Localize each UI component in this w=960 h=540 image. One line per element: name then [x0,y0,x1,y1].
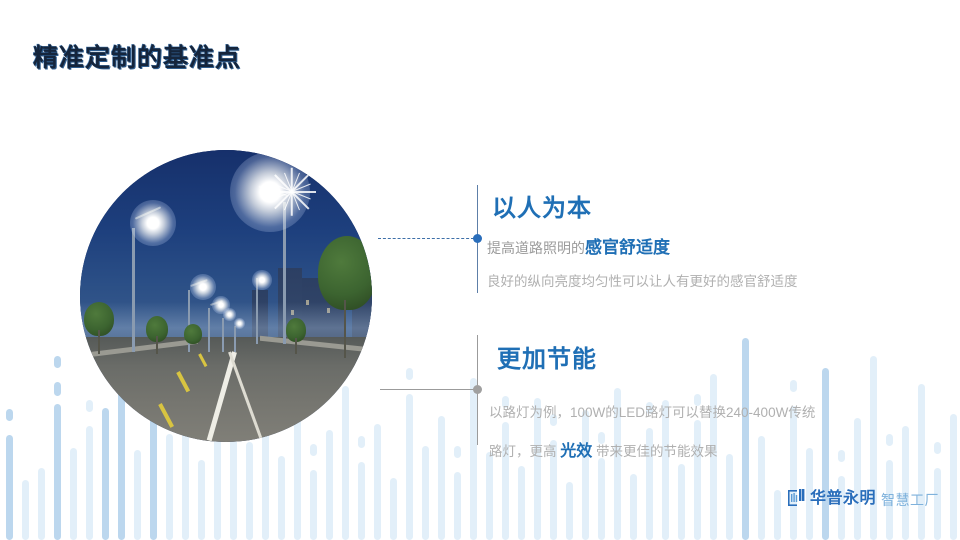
brand-logo: 华普永明 智慧工厂 [788,489,939,507]
photo-lamp-glow [252,270,272,290]
equalizer-bar [374,424,381,540]
content-block-2: 更加节能 [497,339,597,374]
block-1-subline-prefix: 提高道路照明的 [487,240,585,256]
block-1-body: 良好的纵向亮度均匀性可以让人有更好的感官舒适度 [487,270,798,290]
equalizer-bar [630,474,637,540]
equalizer-bar [566,482,573,540]
page-title: 精准定制的基准点 [33,38,241,74]
equalizer-bar-tick [934,442,941,454]
photo-tree-trunk [98,330,100,354]
equalizer-bar [518,466,525,540]
photo-lamp-pole [208,308,210,352]
equalizer-bar [838,476,845,540]
photo-lamp-glow [190,274,216,300]
equalizer-bar [598,458,605,540]
equalizer-bar [854,418,861,540]
equalizer-bar [54,404,61,540]
block-2-body-line-2: 路灯，更高 光效 带来更佳的节能效果 [489,437,718,461]
photo-tree-trunk [156,336,158,354]
equalizer-bar-tick [886,434,893,446]
block-2-body-highlight: 光效 [560,443,592,460]
brand-subname: 智慧工厂 [881,493,939,507]
photo-tree [318,236,372,310]
equalizer-bar [310,470,317,540]
block-2-body-prefix: 路灯，更高 [489,444,560,459]
content-block-1: 以人为本 [492,188,592,223]
equalizer-bar [134,450,141,540]
equalizer-bar [822,368,829,540]
photo-lamp-pole [222,318,224,352]
equalizer-bar [22,480,29,540]
equalizer-bar [902,426,909,540]
block-2-heading: 更加节能 [497,339,597,374]
equalizer-bar [758,436,765,540]
equalizer-bar [86,426,93,540]
photo-lamp-glow [223,308,236,321]
slide-canvas: 精准定制的基准点 [0,0,960,540]
equalizer-bar [662,400,669,540]
equalizer-bar [950,414,957,540]
photo-tree [184,324,202,344]
brand-mark-icon [788,489,805,507]
photo-lamp-glow [234,318,245,329]
equalizer-bar [38,468,45,540]
equalizer-bar [390,478,397,540]
equalizer-bar [438,416,445,540]
equalizer-bar-tick [6,409,13,421]
equalizer-bar [678,464,685,540]
night-road-streetlights-photo [80,150,372,442]
block-1-heading: 以人为本 [492,188,592,223]
photo-tree-trunk [344,300,346,358]
equalizer-bar [166,434,173,540]
equalizer-bar [470,378,477,540]
block-1-subline: 提高道路照明的感官舒适度 [487,233,670,258]
equalizer-bar [70,448,77,540]
equalizer-bar [278,456,285,540]
equalizer-bar [454,472,461,540]
equalizer-bar [870,356,877,540]
connector-node-dot [473,234,482,243]
equalizer-bar-tick [54,356,61,368]
equalizer-bar [422,446,429,540]
photo-lamp-pole [132,228,135,352]
equalizer-bar-tick [454,446,461,458]
equalizer-bar [774,490,781,540]
equalizer-bar [726,454,733,540]
block-2-body-suffix: 带来更佳的节能效果 [592,444,717,459]
equalizer-bar-tick [406,368,413,380]
equalizer-bar-tick [790,380,797,392]
equalizer-bar [742,338,749,540]
equalizer-bar [918,384,925,540]
block-2-body-line-1: 以路灯为例，100W的LED路灯可以替换240-400W传统 [489,401,815,421]
equalizer-bar [198,460,205,540]
photo-lamp-pole [234,326,236,352]
equalizer-bar [246,442,253,540]
equalizer-bar [486,452,493,540]
equalizer-bar [582,410,589,540]
equalizer-bar [326,430,333,540]
equalizer-bar-tick [838,450,845,462]
equalizer-bar-tick [310,444,317,456]
connector-node-dot [473,385,482,394]
equalizer-bar [406,394,413,540]
block-1-subline-highlight: 感官舒适度 [585,238,670,257]
connector-line-solid [380,389,476,390]
brand-name: 华普永明 [810,491,876,507]
equalizer-bar [54,382,61,396]
photo-lamp-glow [130,200,176,246]
photo-tree-trunk [295,338,297,354]
equalizer-bar [358,462,365,540]
equalizer-bar [790,406,797,540]
equalizer-bar [6,435,13,540]
connector-line-dashed [378,238,474,239]
